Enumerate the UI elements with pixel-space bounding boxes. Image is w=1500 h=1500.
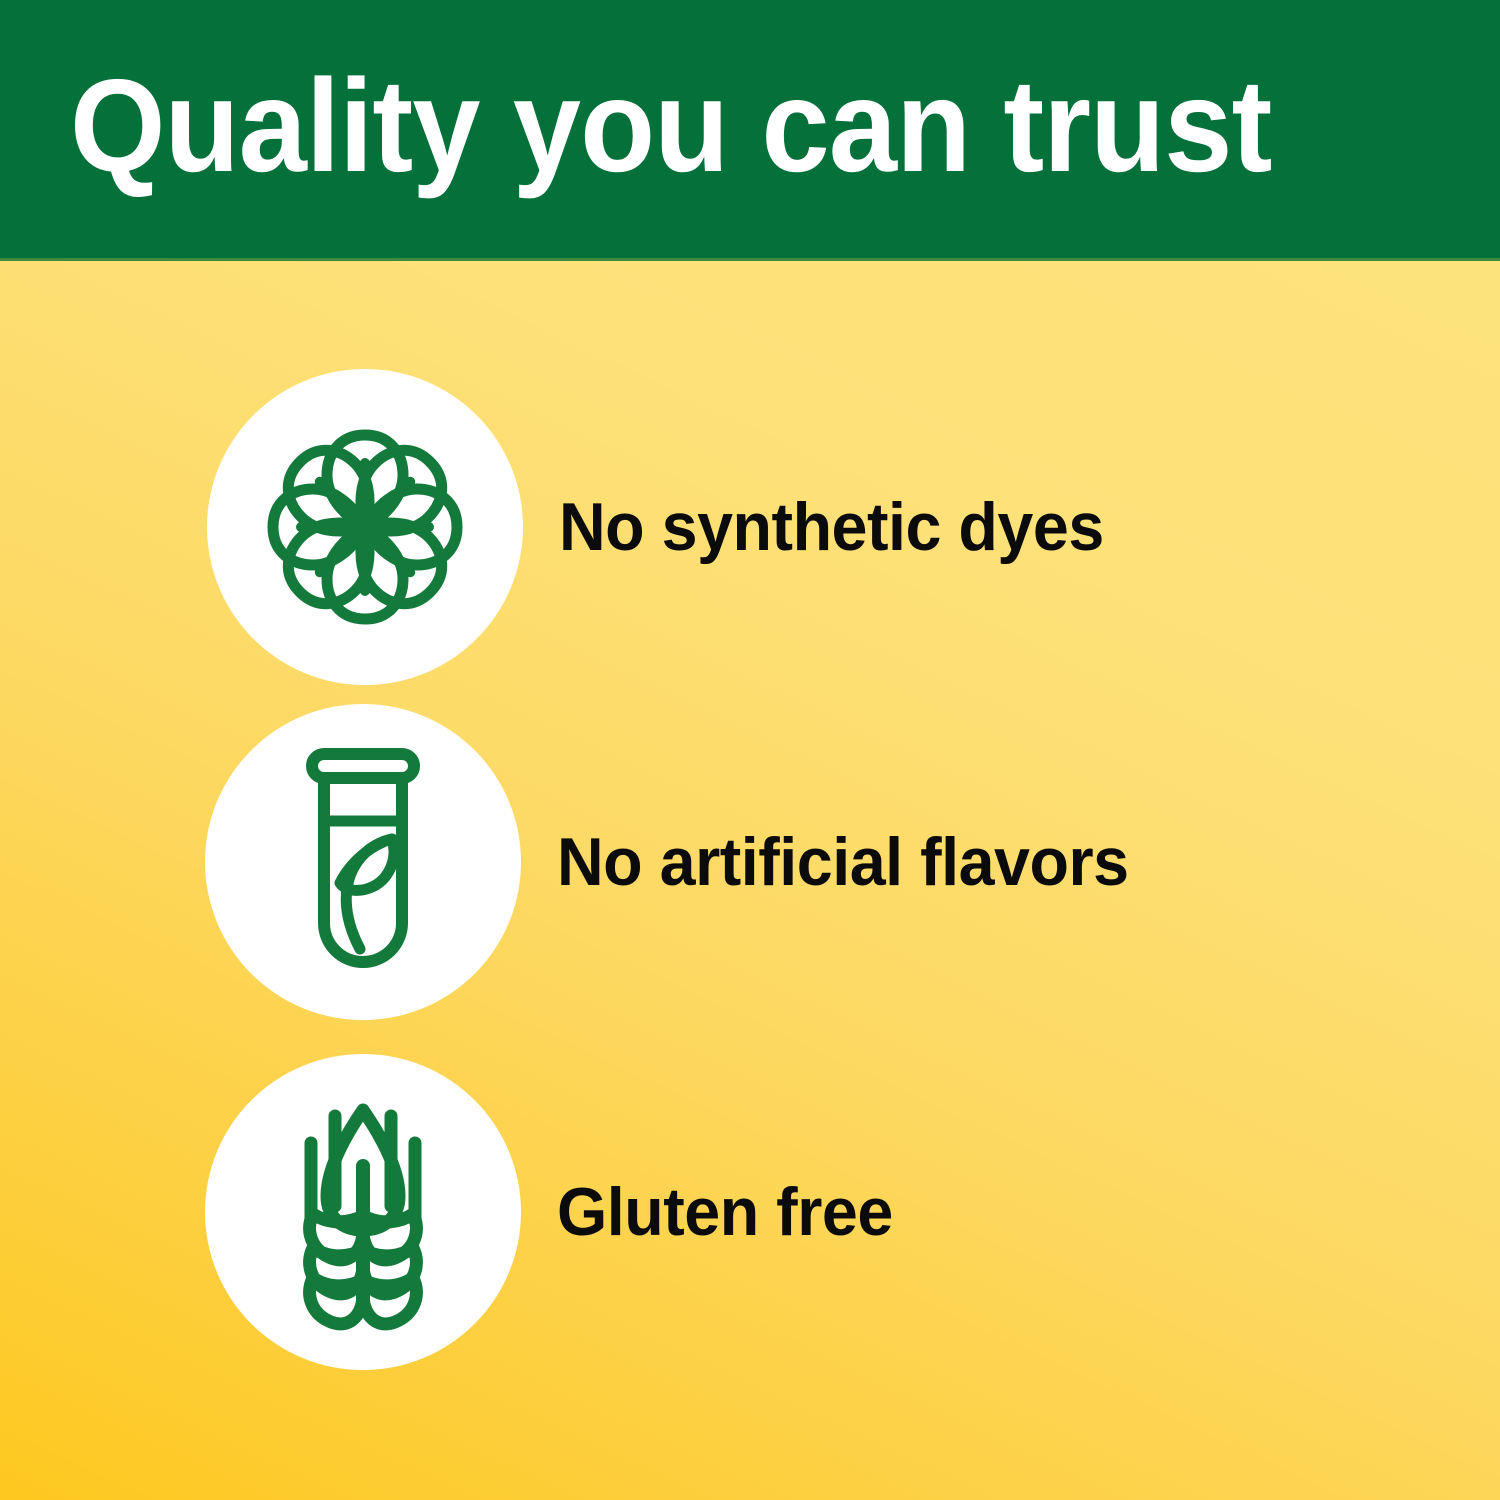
feature-label: No artificial flavors [557, 828, 1129, 896]
header-banner: Quality you can trust [0, 0, 1500, 258]
feature-row: No artificial flavors [205, 704, 1159, 1020]
icon-badge [205, 1054, 521, 1370]
icon-badge [207, 369, 523, 685]
feature-row: Gluten free [205, 1054, 910, 1370]
quality-claims-poster: Quality you can trust [0, 0, 1500, 1500]
test-tube-leaf-icon [238, 737, 488, 987]
flower-rosette-icon [233, 395, 497, 659]
feature-label: No synthetic dyes [559, 493, 1104, 561]
wheat-stalk-icon [239, 1088, 487, 1336]
feature-label: Gluten free [557, 1178, 893, 1246]
icon-badge [205, 704, 521, 1020]
feature-row: No synthetic dyes [207, 369, 1132, 685]
page-title: Quality you can trust [70, 60, 1271, 192]
